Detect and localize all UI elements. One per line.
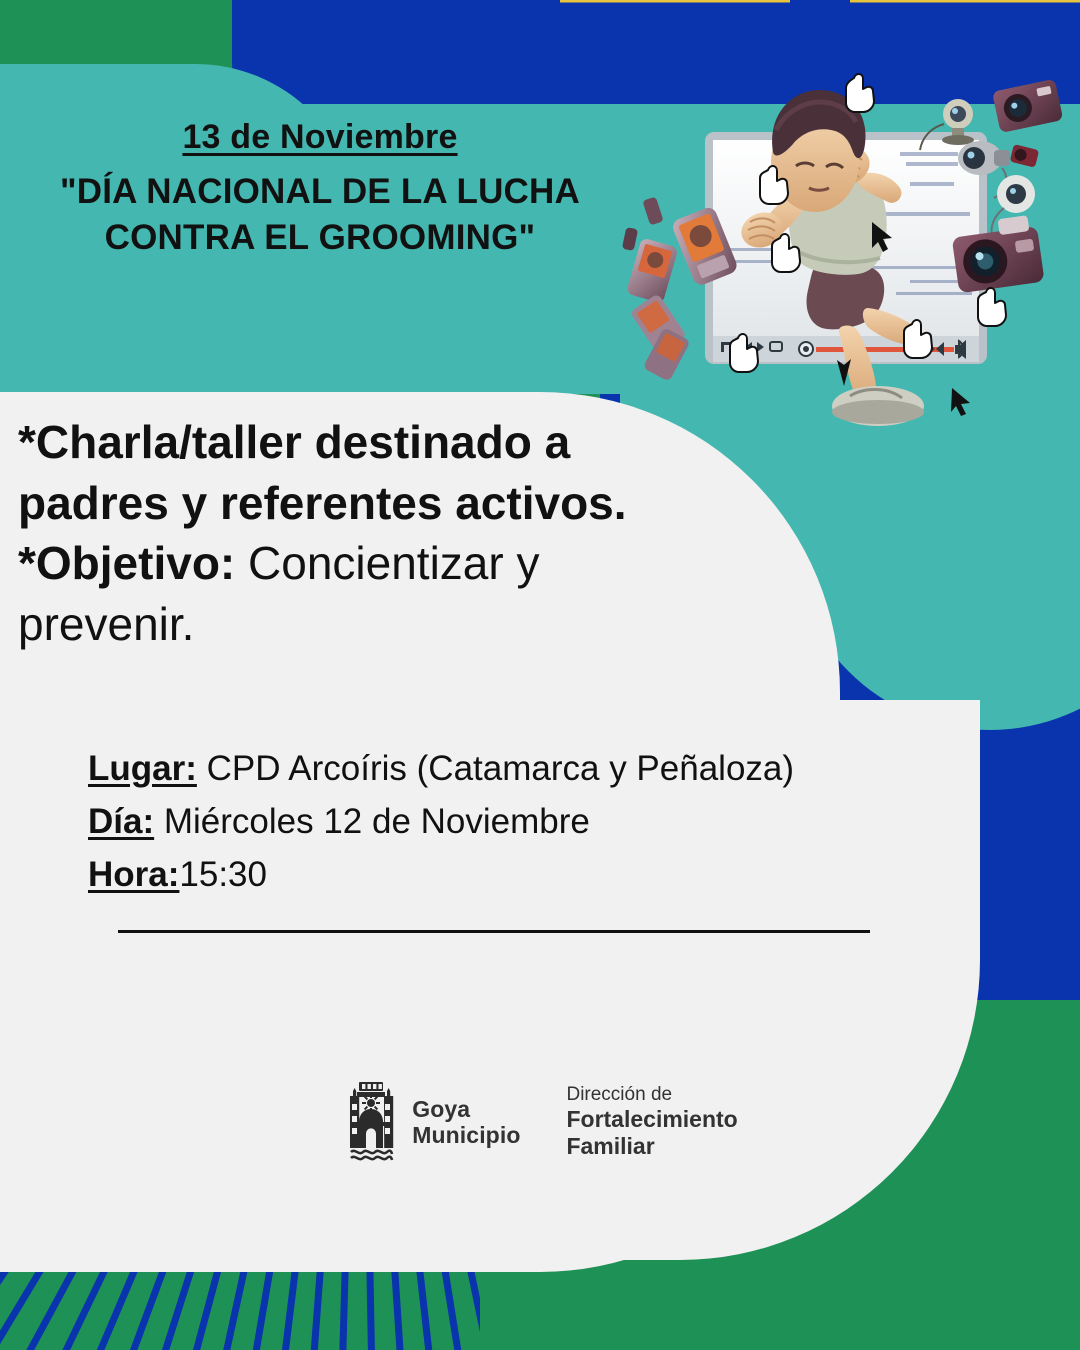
detail-row-lugar: Lugar: CPD Arcoíris (Catamarca y Peñaloz… [88,742,928,795]
grooming-awareness-illustration [610,70,1070,450]
goya-municipio-logo: Goya Municipio [342,1078,520,1166]
poster-root: 13 de Noviembre "DÍA NACIONAL DE LA LUCH… [0,0,1080,1350]
direccion-line-3: Familiar [566,1133,737,1160]
body-line-1: *Charla/taller destinado a [18,416,570,468]
goya-line-2: Municipio [412,1122,520,1148]
detail-label-hora: Hora: [88,855,179,894]
header-text-block: 13 de Noviembre "DÍA NACIONAL DE LA LUCH… [0,118,640,260]
direccion-fortalecimiento-familiar-logo: Dirección de Fortalecimiento Familiar [566,1084,737,1161]
detail-row-dia: Día: Miércoles 12 de Noviembre [88,795,928,848]
header-title-line2: CONTRA EL GROOMING" [0,215,640,261]
detail-row-hora: Hora:15:30 [88,848,928,901]
body-objective-label: *Objetivo: [18,537,235,589]
direccion-line-1: Dirección de [566,1084,737,1106]
direccion-line-2: Fortalecimiento [566,1106,737,1133]
yellow-sunburst-icon [560,0,1080,50]
body-line-4: prevenir. [18,598,194,650]
body-line-2: padres y referentes activos. [18,477,627,529]
header-title: "DÍA NACIONAL DE LA LUCHA CONTRA EL GROO… [0,169,640,260]
detail-label-lugar: Lugar: [88,749,197,788]
detail-value-hora: 15:30 [179,855,267,894]
footer-logos: Goya Municipio Dirección de Fortalecimie… [0,1078,1080,1166]
divider-rule [118,930,870,933]
details-block: Lugar: CPD Arcoíris (Catamarca y Peñaloz… [88,742,928,902]
body-objective-value: Concientizar y [235,537,539,589]
body-copy: *Charla/taller destinado a padres y refe… [18,412,778,655]
detail-value-lugar: CPD Arcoíris (Catamarca y Peñaloza) [197,749,794,788]
header-title-line1: "DÍA NACIONAL DE LA LUCHA [0,169,640,215]
goya-coat-of-arms-icon [342,1078,400,1166]
header-date: 13 de Noviembre [0,118,640,157]
detail-label-dia: Día: [88,802,154,841]
goya-line-1: Goya [412,1096,520,1122]
detail-value-dia: Miércoles 12 de Noviembre [154,802,590,841]
goya-municipio-wordmark: Goya Municipio [412,1096,520,1148]
